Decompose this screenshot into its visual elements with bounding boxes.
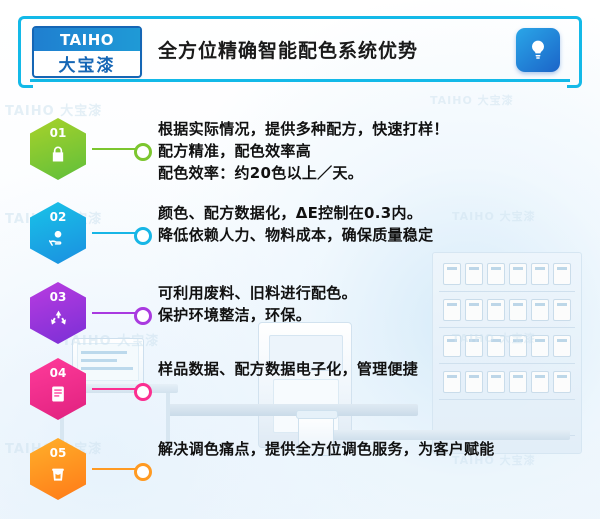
connector-dot xyxy=(134,463,152,481)
advantage-row: 01根据实际情况，提供多种配方，快速打样！配方精准，配色效率高配色效率：约20色… xyxy=(30,118,575,180)
advantage-text-block: 颜色、配方数据化，ΔE控制在0.3内。降低依赖人力、物料成本，确保质量稳定 xyxy=(158,202,433,246)
advantage-text-block: 解决调色痛点，提供全方位调色服务，为客户赋能 xyxy=(158,438,495,460)
advantage-badge: 05 xyxy=(30,438,92,500)
hexagon-badge: 03 xyxy=(30,282,86,344)
lock-icon xyxy=(30,144,86,164)
header-frame-left xyxy=(18,16,33,88)
lightbulb-icon xyxy=(516,28,560,72)
connector-line xyxy=(92,232,138,234)
hexagon-badge: 05 xyxy=(30,438,86,500)
advantage-text-line: 保护环境整洁，环保。 xyxy=(158,304,357,326)
recycle-icon xyxy=(30,308,86,329)
connector-dot xyxy=(134,143,152,161)
header-frame-right xyxy=(567,16,582,88)
header-banner: TAIHO 大宝漆 全方位精确智能配色系统优势 xyxy=(18,16,582,82)
watermark: TAIHO 大宝漆 xyxy=(430,92,514,108)
hand-coin-icon xyxy=(30,228,86,248)
advantage-row: 05解决调色痛点，提供全方位调色服务，为客户赋能 xyxy=(30,438,575,500)
advantage-badge: 03 xyxy=(30,282,92,344)
hexagon-badge: 04 xyxy=(30,358,86,420)
badge-number: 02 xyxy=(30,210,86,224)
advantage-text-line: 配方精准，配色效率高 xyxy=(158,140,449,162)
advantage-row: 02颜色、配方数据化，ΔE控制在0.3内。降低依赖人力、物料成本，确保质量稳定 xyxy=(30,202,575,264)
connector-dot xyxy=(134,383,152,401)
brand-logo-chinese: 大宝漆 xyxy=(59,51,116,76)
advantage-badge: 04 xyxy=(30,358,92,420)
badge-number: 01 xyxy=(30,126,86,140)
brand-logo-latin: TAIHO xyxy=(60,31,114,49)
advantage-text-line: 样品数据、配方数据电子化，管理便捷 xyxy=(158,358,418,380)
advantage-text-line: 配色效率：约20色以上／天。 xyxy=(158,162,449,184)
advantage-text-line: 根据实际情况，提供多种配方，快速打样！ xyxy=(158,118,449,140)
badge-number: 05 xyxy=(30,446,86,460)
header-title: 全方位精确智能配色系统优势 xyxy=(158,16,418,82)
advantage-text-line: 解决调色痛点，提供全方位调色服务，为客户赋能 xyxy=(158,438,495,460)
connector-dot xyxy=(134,227,152,245)
watermark: TAIHO 大宝漆 xyxy=(5,100,102,119)
hexagon-badge: 02 xyxy=(30,202,86,264)
connector-line xyxy=(92,468,138,470)
advantage-row: 04样品数据、配方数据电子化，管理便捷 xyxy=(30,358,575,420)
advantage-text-block: 样品数据、配方数据电子化，管理便捷 xyxy=(158,358,418,380)
connector-line xyxy=(92,312,138,314)
advantage-text-line: 颜色、配方数据化，ΔE控制在0.3内。 xyxy=(158,202,433,224)
advantage-text-line: 降低依赖人力、物料成本，确保质量稳定 xyxy=(158,224,433,246)
brand-logo-bottom: 大宝漆 xyxy=(34,51,140,76)
connector-line xyxy=(92,388,138,390)
brand-logo: TAIHO 大宝漆 xyxy=(32,26,142,78)
badge-number: 03 xyxy=(30,290,86,304)
paint-bucket-icon xyxy=(30,464,86,484)
infographic-page: TAIHO 大宝漆TAIHO 大宝漆TAIHO 大宝漆TAIHO 大宝漆TAIH… xyxy=(0,0,600,519)
badge-number: 04 xyxy=(30,366,86,380)
hexagon-badge: 01 xyxy=(30,118,86,180)
advantage-text-block: 根据实际情况，提供多种配方，快速打样！配方精准，配色效率高配色效率：约20色以上… xyxy=(158,118,449,184)
advantage-text-line: 可利用废料、旧料进行配色。 xyxy=(158,282,357,304)
brand-logo-top: TAIHO xyxy=(34,28,140,51)
page-title: 全方位精确智能配色系统优势 xyxy=(158,36,418,63)
connector-dot xyxy=(134,307,152,325)
document-data-icon xyxy=(30,384,86,404)
connector-line xyxy=(92,148,138,150)
advantage-text-block: 可利用废料、旧料进行配色。保护环境整洁，环保。 xyxy=(158,282,357,326)
advantage-badge: 02 xyxy=(30,202,92,264)
advantage-badge: 01 xyxy=(30,118,92,180)
advantage-row: 03可利用废料、旧料进行配色。保护环境整洁，环保。 xyxy=(30,282,575,344)
